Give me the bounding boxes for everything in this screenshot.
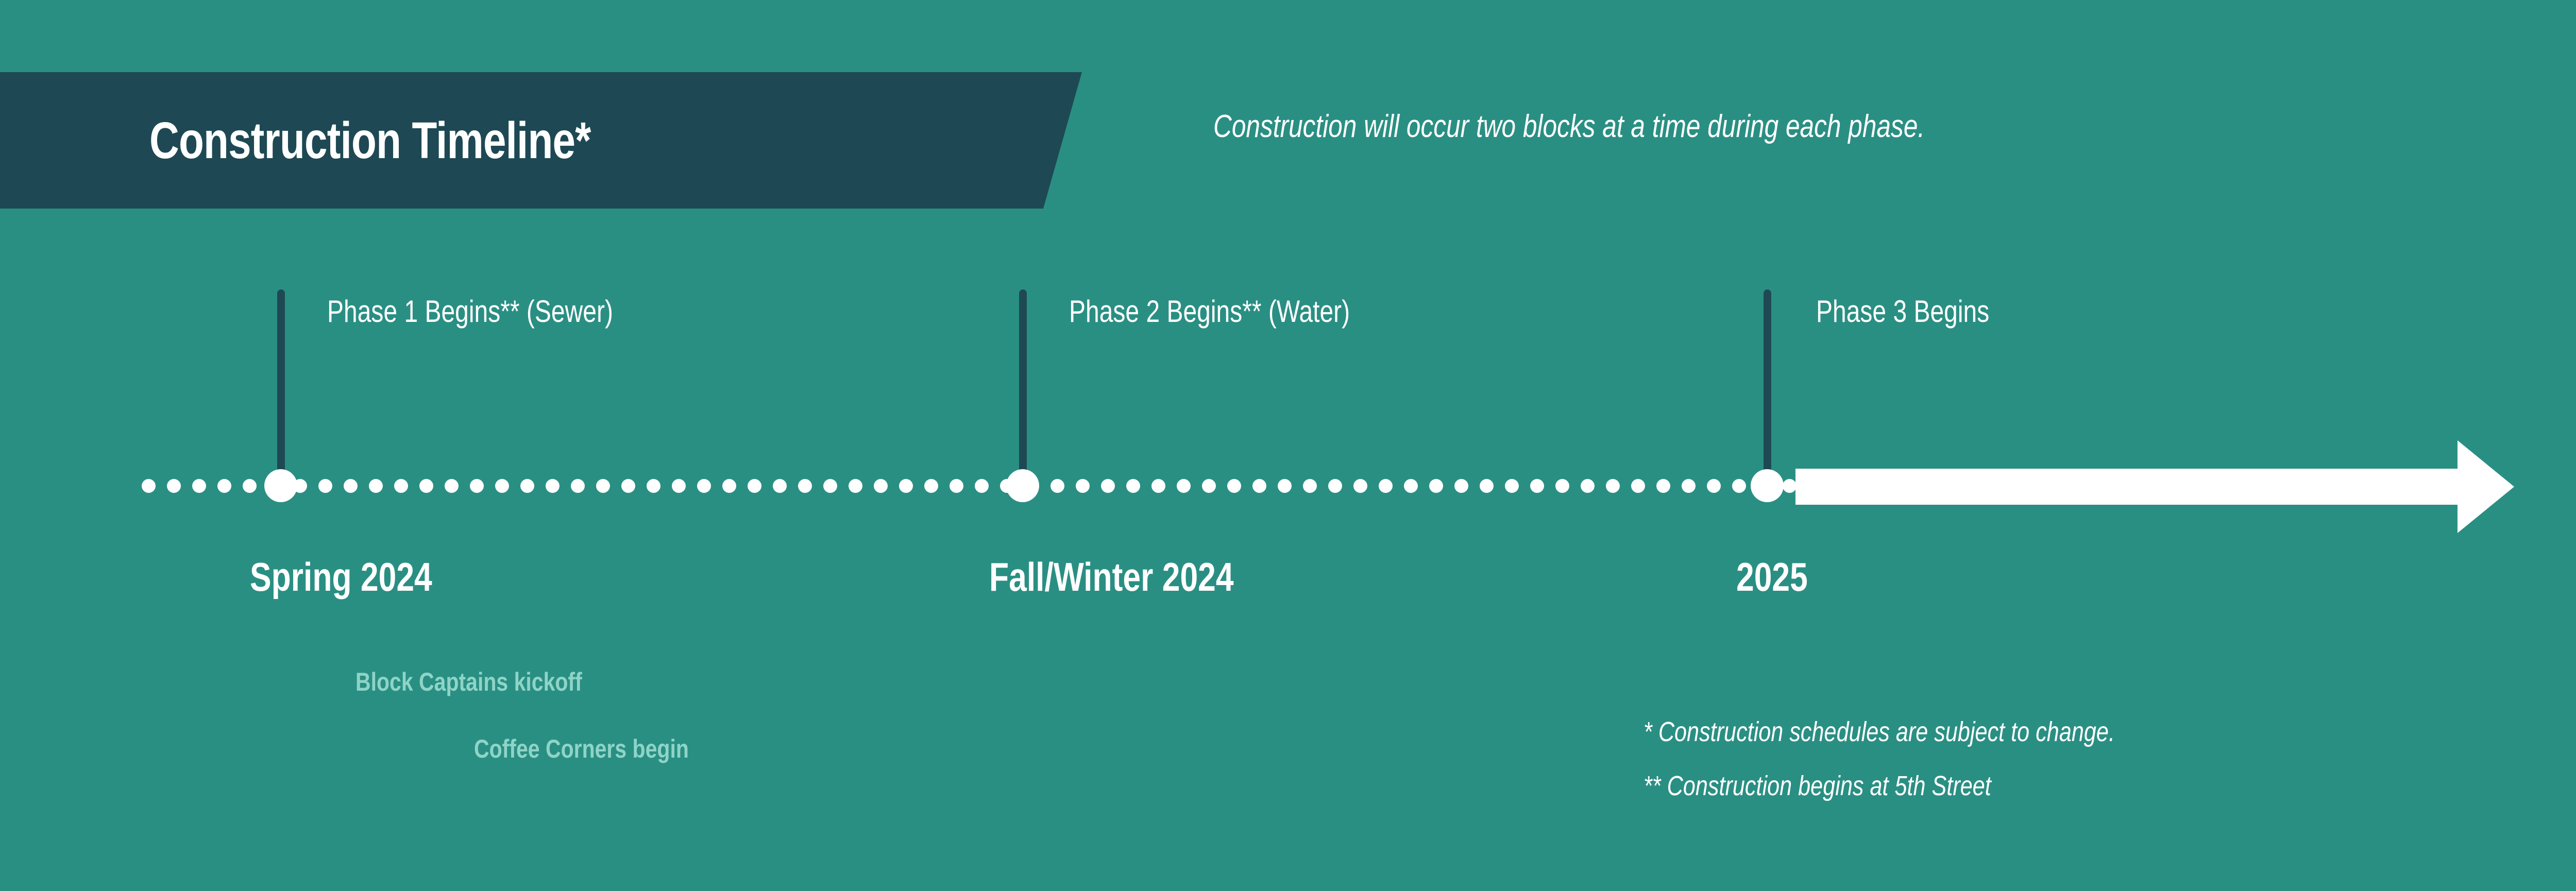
timeline-dot (167, 479, 181, 493)
timeline-dot (1732, 479, 1746, 493)
timeline-dot (697, 479, 711, 493)
timeline-dot (470, 479, 484, 493)
timeline-dot (1278, 479, 1292, 493)
timeline-dot (722, 479, 736, 493)
timeline-dot (495, 479, 509, 493)
timeline-dot (1177, 479, 1191, 493)
timeline-dot (1429, 479, 1443, 493)
timeline-dot (318, 479, 332, 493)
timeline-dot (1202, 479, 1216, 493)
milestone-stem-phase-2 (1019, 289, 1027, 487)
milestone-note: Coffee Corners begin (474, 734, 689, 764)
timeline-dot (546, 479, 560, 493)
timeline-dot (1353, 479, 1367, 493)
timeline-dot (445, 479, 459, 493)
timeline-dot (369, 479, 383, 493)
timeline-dot (773, 479, 787, 493)
timeline-dot (394, 479, 408, 493)
timeline-dot (1227, 479, 1241, 493)
timeline-dot (1076, 479, 1090, 493)
timeline-dot (419, 479, 433, 493)
timeline-dot (1328, 479, 1342, 493)
timeline-dot (899, 479, 913, 493)
timeline-dot (1581, 479, 1595, 493)
timeline-dot (1783, 479, 1797, 493)
phase-label-phase-1: Phase 1 Begins** (Sewer) (327, 294, 613, 329)
milestone-note: Block Captains kickoff (355, 667, 582, 697)
timeline-dot (1682, 479, 1696, 493)
timeline-dot (849, 479, 862, 493)
timeline-dotted-axis (142, 479, 1811, 494)
infographic-canvas: Construction Timeline* Construction will… (0, 0, 2576, 891)
date-label-phase-2: Fall/Winter 2024 (989, 554, 1234, 601)
title-banner: Construction Timeline* (0, 72, 1082, 209)
timeline-dot (748, 479, 761, 493)
timeline-dot (1480, 479, 1494, 493)
timeline-dot (1454, 479, 1468, 493)
footnote-2: ** Construction begins at 5th Street (1643, 770, 1991, 802)
header-subtitle: Construction will occur two blocks at a … (1213, 108, 1925, 145)
timeline-dot (950, 479, 963, 493)
timeline-dot (874, 479, 888, 493)
timeline-dot (1379, 479, 1393, 493)
timeline-dot (344, 479, 358, 493)
timeline-dot (1505, 479, 1519, 493)
timeline-dot (142, 479, 156, 493)
timeline-arrow-bar (1795, 469, 2470, 505)
timeline-dot (1656, 479, 1670, 493)
milestone-stem-phase-3 (1764, 289, 1771, 487)
timeline-dot (1303, 479, 1317, 493)
timeline-dot (1606, 479, 1620, 493)
timeline-dot (924, 479, 938, 493)
timeline-dot (1530, 479, 1544, 493)
milestone-node-phase-3[interactable] (1751, 469, 1784, 502)
timeline-dot (192, 479, 206, 493)
timeline-dot (1151, 479, 1165, 493)
timeline-dot (1101, 479, 1115, 493)
phase-label-phase-2: Phase 2 Begins** (Water) (1069, 294, 1350, 329)
timeline-dot (798, 479, 812, 493)
timeline-dot (672, 479, 686, 493)
timeline-dot (520, 479, 534, 493)
phase-label-phase-3: Phase 3 Begins (1816, 294, 1989, 329)
timeline-dot (621, 479, 635, 493)
date-label-phase-3: 2025 (1736, 554, 1808, 601)
timeline-arrow-head-icon (2458, 440, 2514, 533)
timeline-dot (1126, 479, 1140, 493)
timeline-dot (1404, 479, 1418, 493)
milestone-node-phase-1[interactable] (264, 469, 297, 502)
milestone-node-phase-2[interactable] (1006, 469, 1039, 502)
timeline-dot (1252, 479, 1266, 493)
timeline-dot (1631, 479, 1645, 493)
milestone-stem-phase-1 (277, 289, 285, 487)
timeline-dot (243, 479, 257, 493)
timeline-dot (1050, 479, 1064, 493)
timeline-dot (217, 479, 231, 493)
timeline-dot (571, 479, 585, 493)
timeline-dot (596, 479, 610, 493)
page-title: Construction Timeline* (149, 115, 591, 166)
timeline-dot (975, 479, 989, 493)
footnote-1: * Construction schedules are subject to … (1643, 716, 2115, 748)
date-label-phase-1: Spring 2024 (250, 554, 432, 601)
timeline-dot (823, 479, 837, 493)
timeline-dot (1707, 479, 1721, 493)
timeline-dot (647, 479, 660, 493)
timeline-dot (1555, 479, 1569, 493)
